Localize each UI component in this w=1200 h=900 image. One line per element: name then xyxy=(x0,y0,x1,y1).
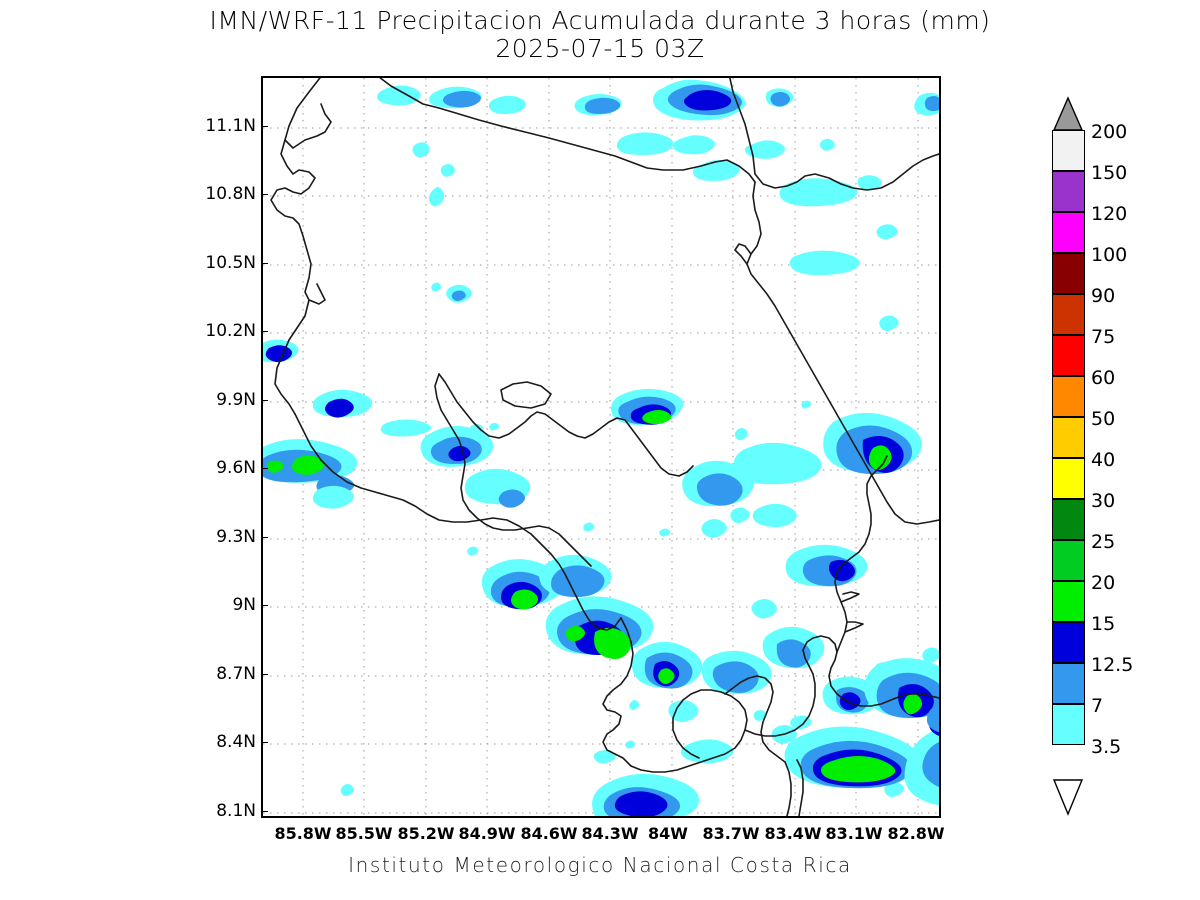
x-tick-label: 85.2W xyxy=(397,824,454,843)
y-tick-label: 8.1N xyxy=(196,801,256,821)
y-tick-mark xyxy=(261,194,268,195)
colorbar-label: 75 xyxy=(1091,326,1115,348)
y-tick-mark xyxy=(261,605,268,606)
colorbar-label: 100 xyxy=(1091,244,1127,266)
precip-cell-north-scattered xyxy=(412,132,834,158)
colorbar-label: 15 xyxy=(1091,613,1115,635)
colorbar-swatch-100 xyxy=(1052,212,1085,253)
colorbar-label: 40 xyxy=(1091,449,1115,471)
y-tick-mark xyxy=(261,674,268,675)
colorbar-swatch-150 xyxy=(1052,130,1085,171)
colorbar-label: 7 xyxy=(1091,695,1103,717)
y-tick-label: 9.6N xyxy=(196,458,256,478)
x-tick-label: 85.8W xyxy=(274,824,331,843)
y-tick-label: 10.8N xyxy=(196,184,256,204)
y-tick-label: 9N xyxy=(196,595,256,615)
y-tick-mark xyxy=(261,811,268,812)
y-tick-label: 9.3N xyxy=(196,527,256,547)
x-tick-label: 83.7W xyxy=(702,824,759,843)
colorbar-label: 150 xyxy=(1091,162,1127,184)
colorbar-swatch-25 xyxy=(1052,499,1085,540)
map-plot-area xyxy=(261,76,941,818)
x-tick-label: 84W xyxy=(648,824,688,843)
colorbar-label: 90 xyxy=(1091,285,1115,307)
x-tick-label: 82.8W xyxy=(887,824,944,843)
y-tick-label: 10.5N xyxy=(196,253,256,273)
colorbar-swatch-12-5 xyxy=(1052,622,1085,663)
y-tick-label: 11.1N xyxy=(196,116,256,136)
y-tick-label: 8.7N xyxy=(196,664,256,684)
colorbar-swatch-90 xyxy=(1052,253,1085,294)
x-tick-label: 83.1W xyxy=(825,824,882,843)
x-tick-label: 84.6W xyxy=(520,824,577,843)
weather-map-page: IMN/WRF-11 Precipitacion Acumulada duran… xyxy=(0,0,1200,900)
precipitation-map xyxy=(263,78,939,816)
colorbar-swatch-30 xyxy=(1052,458,1085,499)
page-subtitle: 2025-07-15 03Z xyxy=(0,34,1200,63)
colorbar-label: 25 xyxy=(1091,531,1115,553)
y-tick-mark xyxy=(261,400,268,401)
colorbar-swatch-7 xyxy=(1052,663,1085,704)
colorbar-swatch-75 xyxy=(1052,294,1085,335)
x-tick-label: 85.5W xyxy=(335,824,392,843)
y-tick-mark xyxy=(261,263,268,264)
x-tick-label: 83.4W xyxy=(764,824,821,843)
x-tick-label: 84.9W xyxy=(458,824,515,843)
colorbar-label: 20 xyxy=(1091,572,1115,594)
colorbar-label: 30 xyxy=(1091,490,1115,512)
x-tick-label: 84.3W xyxy=(581,824,638,843)
colorbar-swatch-3-5 xyxy=(1052,704,1085,745)
colorbar-label: 50 xyxy=(1091,408,1115,430)
y-tick-label: 8.4N xyxy=(196,732,256,752)
y-tick-mark xyxy=(261,331,268,332)
colorbar-swatch-20 xyxy=(1052,540,1085,581)
colorbar: 200 150 120 100 90 75 60 50 40 30 25 20 … xyxy=(1049,96,1199,818)
colorbar-swatch-60 xyxy=(1052,335,1085,376)
colorbar-label: 120 xyxy=(1091,203,1127,225)
precip-cell-pacific-southwest xyxy=(592,774,699,816)
y-tick-mark xyxy=(261,468,268,469)
colorbar-label: 3.5 xyxy=(1091,736,1121,758)
y-tick-mark xyxy=(261,126,268,127)
colorbar-label: 60 xyxy=(1091,367,1115,389)
colorbar-swatch-120 xyxy=(1052,171,1085,212)
y-tick-mark xyxy=(261,742,268,743)
colorbar-label: 12.5 xyxy=(1091,654,1133,676)
colorbar-swatch-50 xyxy=(1052,376,1085,417)
colorbar-label: 200 xyxy=(1091,121,1127,143)
footer-attribution: Instituto Meteorologico Nacional Costa R… xyxy=(0,853,1200,877)
y-tick-mark xyxy=(261,537,268,538)
precip-cell-central-valley xyxy=(263,389,772,764)
y-tick-label: 9.9N xyxy=(196,390,256,410)
colorbar-swatch-15 xyxy=(1052,581,1085,622)
page-title: IMN/WRF-11 Precipitacion Acumulada duran… xyxy=(0,6,1200,35)
colorbar-swatch-40 xyxy=(1052,417,1085,458)
y-tick-label: 10.2N xyxy=(196,321,256,341)
